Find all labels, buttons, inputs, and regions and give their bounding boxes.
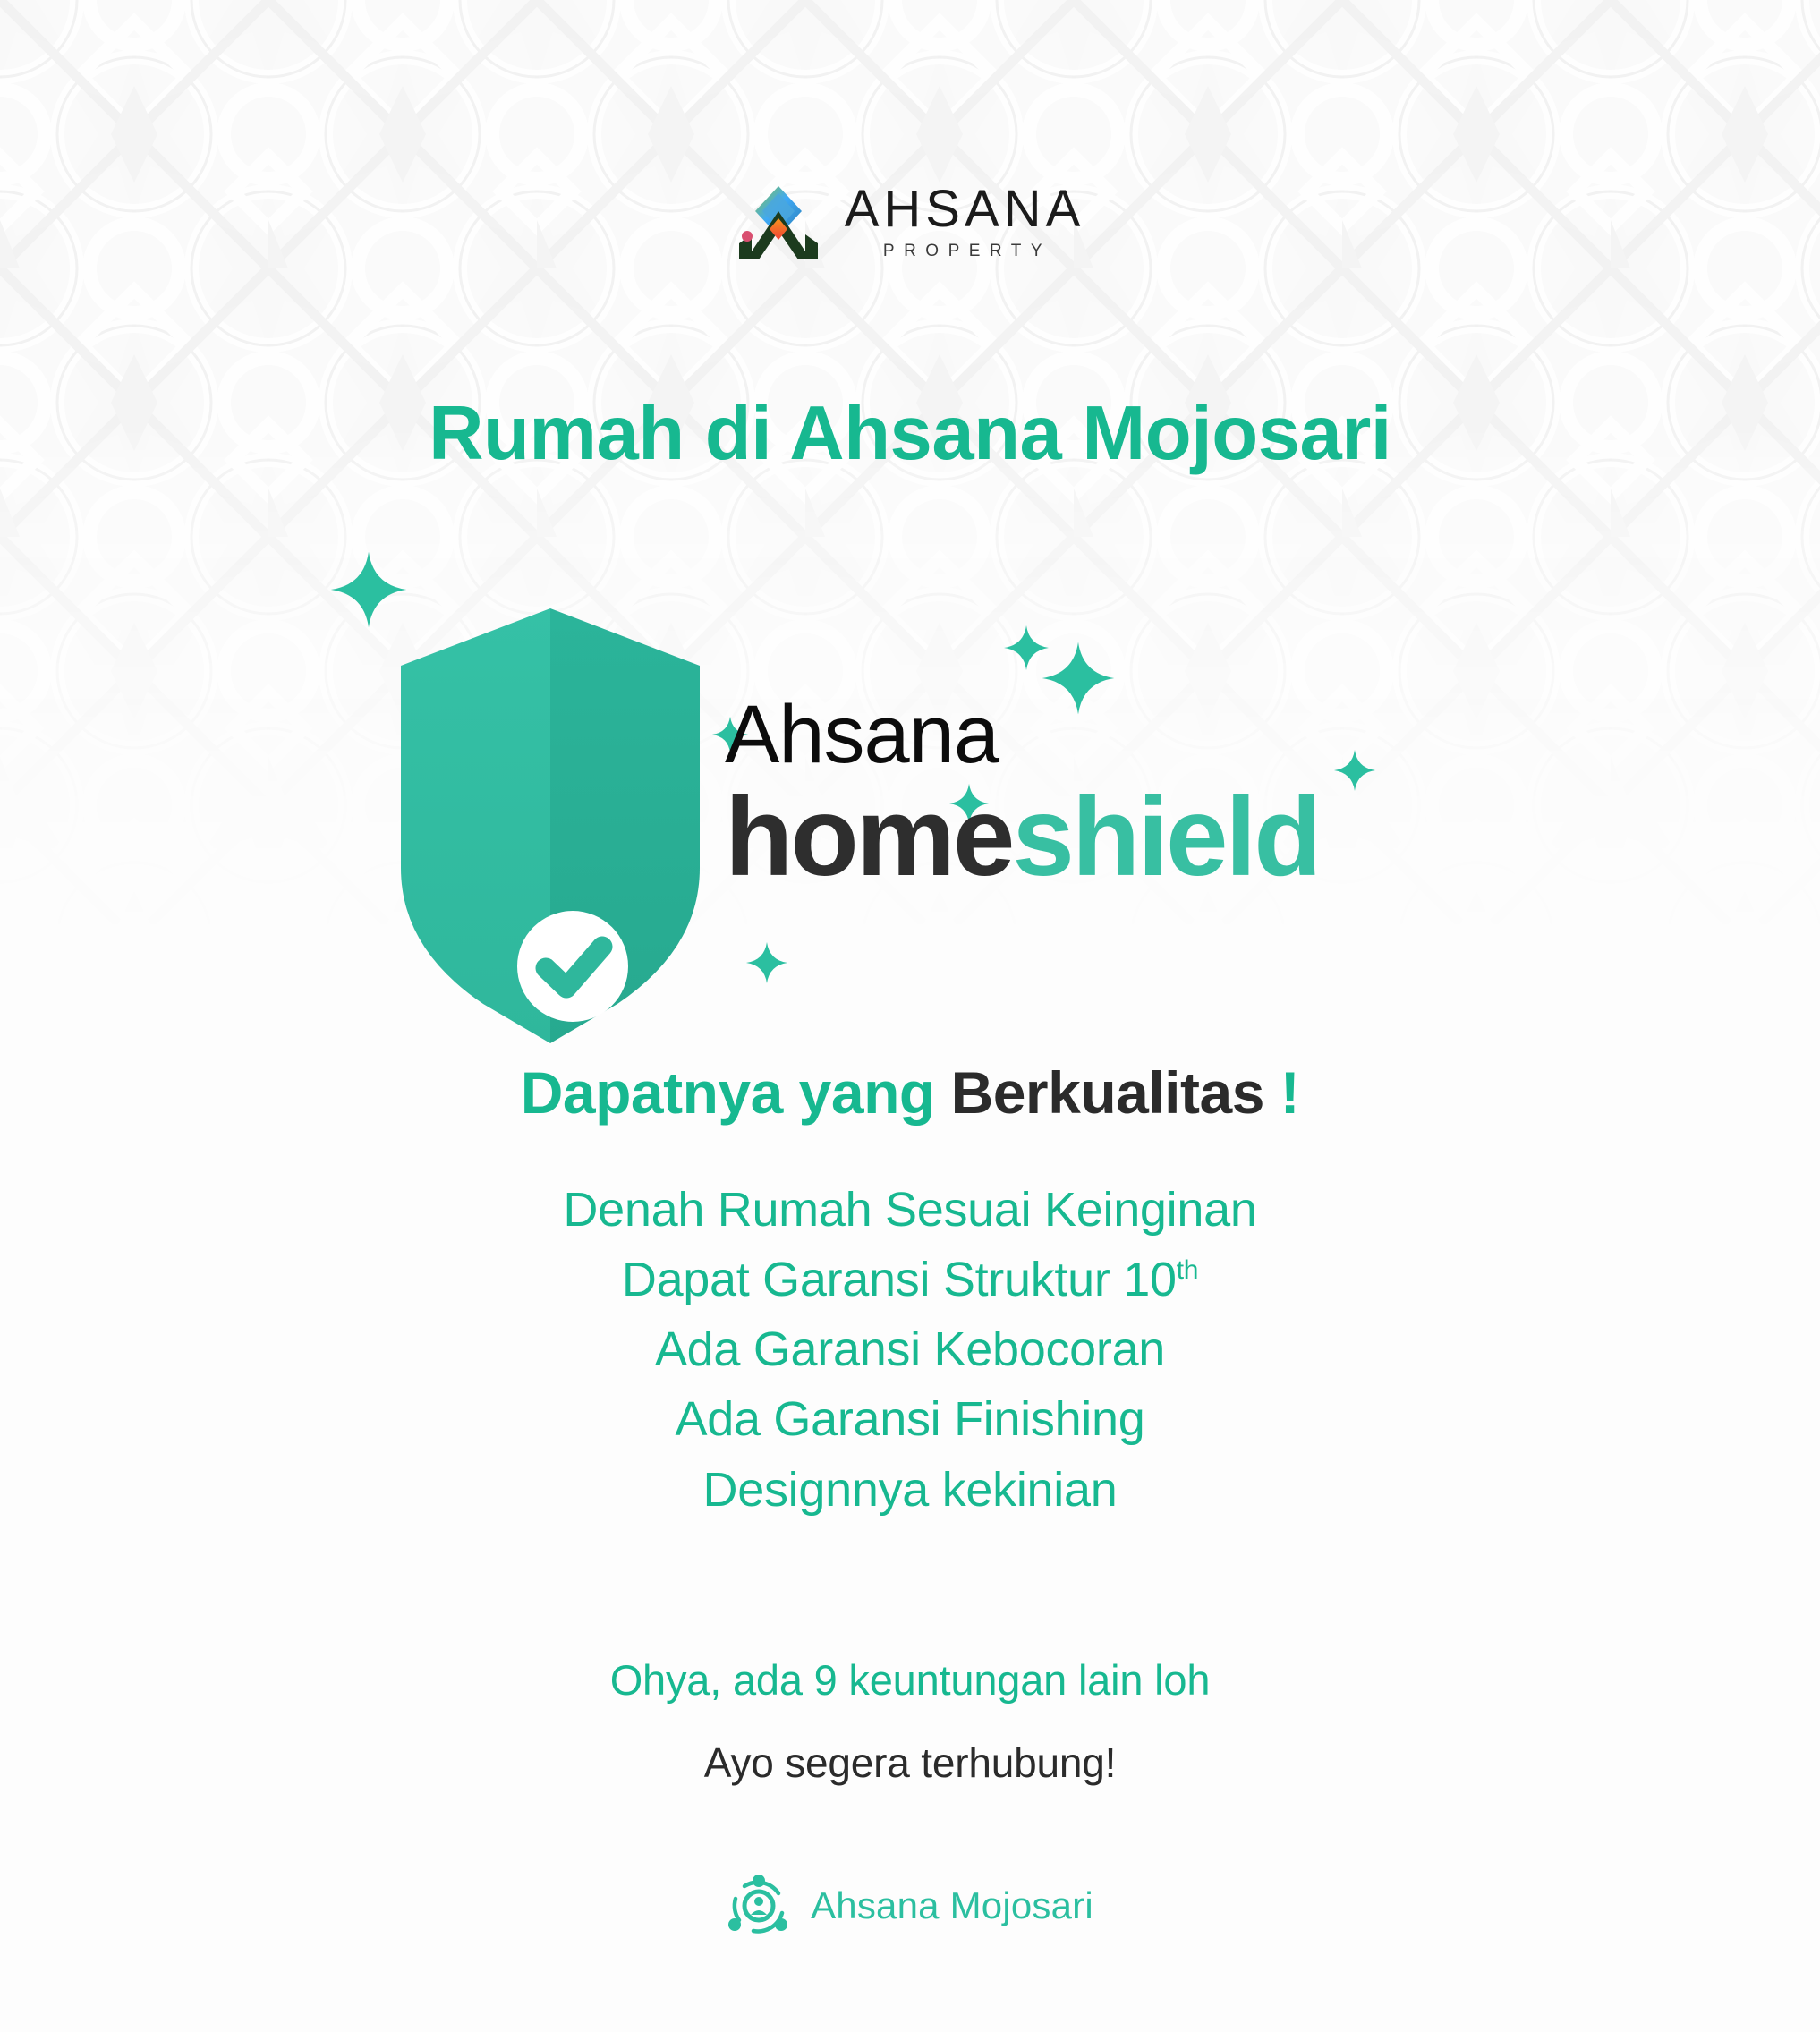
cta-section: Ohya, ada 9 keuntungan lain loh Ayo sege… (0, 1655, 1820, 1787)
benefits-title-teal: Dapatnya yang (521, 1059, 935, 1126)
sparkle-icon (1333, 749, 1376, 792)
benefit-text: Ada Garansi Finishing (676, 1392, 1145, 1446)
list-item: Dapat Garansi Struktur 10th (0, 1245, 1820, 1314)
page-title: Rumah di Ahsana Mojosari (0, 394, 1820, 473)
benefits-list: Denah Rumah Sesuai Keinginan Dapat Garan… (0, 1175, 1820, 1525)
sparkle-icon (745, 941, 788, 984)
benefit-superscript: th (1177, 1255, 1198, 1285)
benefits-title-dark: Berkualitas (951, 1059, 1264, 1126)
brand-logo: AHSANA PROPERTY (0, 183, 1820, 261)
product-wordmark: Ahsana homeshield (725, 693, 1320, 893)
product-word-shield: shield (1012, 775, 1319, 899)
product-word-home: home (725, 775, 1012, 899)
benefits-section: Dapatnya yang Berkualitas ! Denah Rumah … (0, 1060, 1820, 1525)
sparkle-icon (1003, 625, 1050, 671)
list-item: Ada Garansi Finishing (0, 1384, 1820, 1454)
benefit-text: Dapat Garansi Struktur 10 (622, 1253, 1177, 1306)
footer-label: Ahsana Mojosari (811, 1884, 1093, 1927)
list-item: Designnya kekinian (0, 1455, 1820, 1525)
user-network-icon (727, 1874, 791, 1938)
benefits-title-exclamation: ! (1280, 1059, 1299, 1126)
footer: Ahsana Mojosari (0, 1874, 1820, 1938)
brand-tagline: PROPERTY (878, 242, 1051, 261)
list-item: Ada Garansi Kebocoran (0, 1314, 1820, 1384)
benefits-title: Dapatnya yang Berkualitas ! (0, 1060, 1820, 1126)
benefit-text: Ada Garansi Kebocoran (655, 1322, 1165, 1376)
brand-name: AHSANA (845, 183, 1085, 235)
cta-teaser: Ohya, ada 9 keuntungan lain loh (0, 1655, 1820, 1705)
ahsana-triangle-mark-icon (736, 184, 821, 261)
poster-canvas: AHSANA PROPERTY Rumah di Ahsana Mojosari (0, 0, 1820, 2032)
hero-lockup: Ahsana homeshield (0, 555, 1820, 1056)
shield-check-icon (385, 599, 716, 1047)
brand-wordmark: AHSANA PROPERTY (845, 183, 1085, 261)
benefit-text: Denah Rumah Sesuai Keinginan (563, 1183, 1256, 1237)
product-prefix: Ahsana (725, 693, 1320, 776)
list-item: Denah Rumah Sesuai Keinginan (0, 1175, 1820, 1245)
product-name: homeshield (725, 781, 1320, 893)
cta-prompt: Ayo segera terhubung! (0, 1739, 1820, 1787)
benefit-text: Designnya kekinian (703, 1463, 1118, 1517)
